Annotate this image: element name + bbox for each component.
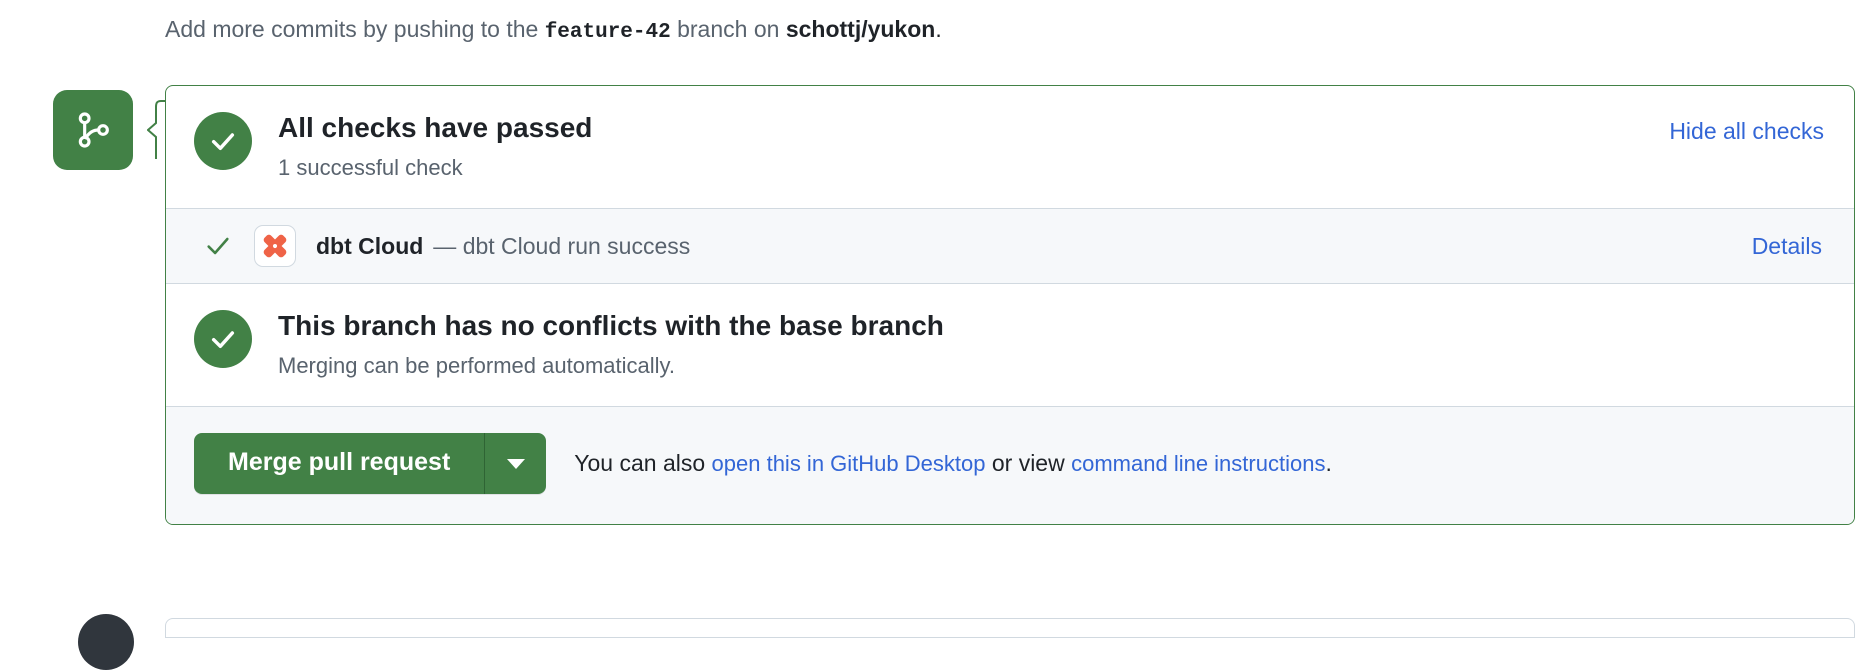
footer-hint-prefix: You can also xyxy=(574,450,705,476)
no-conflicts-icon xyxy=(194,310,252,368)
push-commits-hint: Add more commits by pushing to the featu… xyxy=(165,14,942,48)
check-details-link[interactable]: Details xyxy=(1752,233,1822,260)
github-desktop-link[interactable]: open this in GitHub Desktop xyxy=(712,451,986,476)
merge-options-dropdown-button[interactable] xyxy=(484,433,546,494)
merge-status-box: All checks have passed 1 successful chec… xyxy=(165,85,1855,525)
conflicts-section: This branch has no conflicts with the ba… xyxy=(166,284,1854,406)
branch-name-code: feature-42 xyxy=(545,21,671,44)
check-status-icon xyxy=(204,232,234,260)
dbt-x-glyph-icon xyxy=(260,231,290,261)
chevron-down-icon xyxy=(507,459,525,469)
repository-name: schottj/yukon xyxy=(786,16,936,42)
check-separator: — xyxy=(433,233,456,259)
next-comment-box xyxy=(165,618,1855,638)
checks-summary-text: All checks have passed 1 successful chec… xyxy=(278,110,1826,184)
check-row: dbt Cloud — dbt Cloud run success Detail… xyxy=(166,208,1854,284)
command-line-instructions-link[interactable]: command line instructions xyxy=(1071,451,1325,476)
check-description-text: dbt Cloud run success xyxy=(463,233,691,259)
conflicts-title: This branch has no conflicts with the ba… xyxy=(278,308,1826,344)
check-icon xyxy=(207,323,239,355)
merge-footer-hint: You can also open this in GitHub Desktop… xyxy=(574,450,1332,477)
conflicts-subtitle: Merging can be performed automatically. xyxy=(278,350,1826,382)
merge-status-badge xyxy=(53,90,133,170)
conflicts-text: This branch has no conflicts with the ba… xyxy=(278,308,1826,382)
footer-hint-middle: or view xyxy=(992,450,1065,476)
checks-summary-section: All checks have passed 1 successful chec… xyxy=(166,86,1854,208)
merge-pull-request-button[interactable]: Merge pull request xyxy=(194,433,484,494)
checks-passed-icon xyxy=(194,112,252,170)
check-icon xyxy=(204,232,232,260)
push-hint-suffix: . xyxy=(935,16,941,42)
hide-all-checks-link[interactable]: Hide all checks xyxy=(1669,118,1824,145)
check-icon xyxy=(207,125,239,157)
checks-summary-subtitle: 1 successful check xyxy=(278,152,1826,184)
git-branch-icon xyxy=(73,110,113,150)
push-hint-middle: branch on xyxy=(677,16,779,42)
next-comment-avatar[interactable] xyxy=(78,614,134,670)
push-hint-prefix: Add more commits by pushing to the xyxy=(165,16,538,42)
check-app-name[interactable]: dbt Cloud xyxy=(316,233,423,260)
check-description: — dbt Cloud run success xyxy=(433,233,690,260)
dbt-cloud-icon xyxy=(254,225,296,267)
checks-summary-title: All checks have passed xyxy=(278,110,1826,146)
merge-split-button: Merge pull request xyxy=(194,433,546,494)
merge-action-footer: Merge pull request You can also open thi… xyxy=(166,406,1854,524)
footer-hint-suffix: . xyxy=(1325,450,1331,476)
